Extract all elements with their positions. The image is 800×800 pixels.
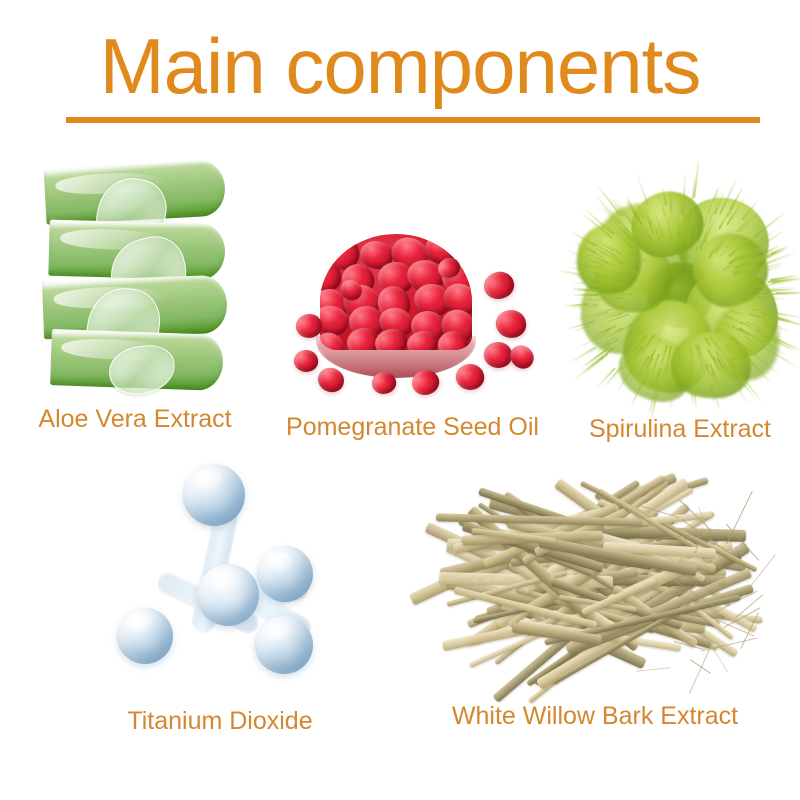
spirulina-filament	[579, 294, 607, 296]
pomegranate-aril-loose	[291, 348, 319, 374]
component-card-pomegranate[interactable]: Pomegranate Seed Oil	[285, 218, 540, 442]
molecule-atom-center	[197, 564, 259, 626]
willow-bark-fibre	[690, 659, 711, 674]
spirulina-filament	[762, 293, 800, 295]
title-underline-rule	[66, 117, 760, 123]
component-label-aloe-vera: Aloe Vera Extract	[10, 404, 260, 434]
components-row-1: Aloe Vera Extract Pomegranate Seed Oil S…	[0, 160, 800, 440]
molecule-atom-right	[257, 546, 313, 602]
pomegranate-aril-loose	[479, 267, 518, 305]
molecule-atom-lower-right	[255, 616, 313, 674]
spirulina-filament	[677, 220, 680, 234]
pomegranate-aril-loose	[316, 366, 345, 393]
component-label-titanium-dioxide: Titanium Dioxide	[75, 706, 365, 736]
component-label-spirulina: Spirulina Extract	[570, 414, 790, 444]
pomegranate-aril-loose	[506, 342, 537, 373]
component-label-white-willow-bark: White Willow Bark Extract	[425, 701, 765, 731]
willow-bark-sticks-photo	[445, 470, 745, 685]
molecule-model-render	[105, 460, 335, 690]
page-title-block: Main components	[0, 24, 800, 108]
pomegranate-aril-loose	[481, 340, 513, 371]
molecule-atom-top	[183, 464, 245, 526]
component-card-aloe-vera[interactable]: Aloe Vera Extract	[10, 160, 260, 434]
aloe-vera-slices-photo	[35, 160, 235, 390]
molecule-atom-lower-left	[117, 608, 173, 664]
components-row-2: Titanium Dioxide White Willow Bark Extra…	[0, 460, 800, 760]
pomegranate-arils-photo	[288, 218, 538, 398]
component-card-white-willow-bark[interactable]: White Willow Bark Extract	[425, 470, 765, 731]
spirulina-filament	[677, 354, 680, 371]
spirulina-filament	[748, 297, 765, 300]
page-title: Main components	[0, 24, 800, 108]
component-label-pomegranate: Pomegranate Seed Oil	[285, 412, 540, 442]
poster-canvas: Main components Aloe Vera Extract Pomegr…	[0, 0, 800, 800]
component-card-spirulina[interactable]: Spirulina Extract	[570, 190, 790, 444]
pomegranate-aril-loose	[493, 308, 527, 341]
spirulina-algae-photo	[575, 190, 785, 400]
component-card-titanium-dioxide[interactable]: Titanium Dioxide	[75, 460, 365, 736]
pomegranate-aril-loose	[453, 361, 487, 393]
